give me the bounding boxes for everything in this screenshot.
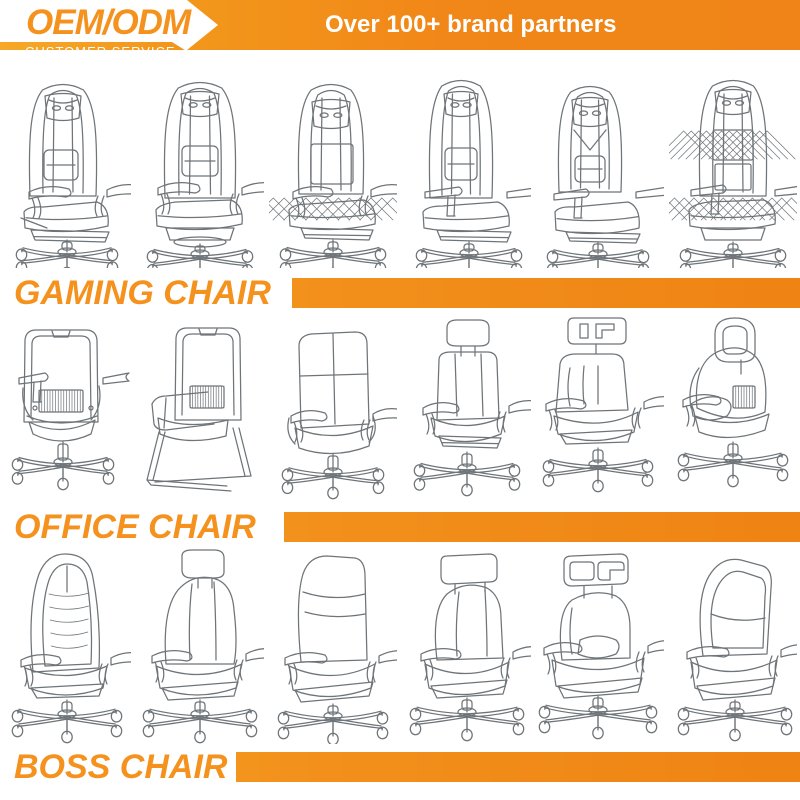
product-thumb-boss-chair-ribbed-back[interactable]: [0, 548, 133, 744]
product-row-office: [0, 312, 800, 504]
product-row-boss: [0, 548, 800, 744]
gaming-chair-diamond-stitch-illustration: [669, 72, 797, 268]
gaming-chair-quilted-seat-illustration: [269, 72, 397, 268]
highback-headrest-chair-footrest-illustration: [403, 312, 531, 504]
gaming-chair-winged-back-illustration: [536, 72, 664, 268]
product-thumb-racing-gaming-chair-footrest-left[interactable]: [0, 72, 133, 268]
product-row-office-images: [0, 312, 800, 504]
product-thumb-ergonomic-lumbar-mesh-chair[interactable]: [667, 312, 800, 504]
boss-chair-tall-back-illustration: [269, 548, 397, 744]
product-thumb-mesh-task-chair-swivel[interactable]: [0, 312, 133, 504]
racing-gaming-chair-front-illustration: [136, 72, 264, 268]
product-thumb-gaming-chair-highback-footrest[interactable]: [400, 72, 533, 268]
boss-chair-padded-headrest-illustration: [403, 548, 531, 744]
product-row-gaming-images: [0, 72, 800, 268]
product-thumb-boss-chair-headrest-recliner[interactable]: [133, 548, 266, 744]
product-thumb-midback-executive-chair[interactable]: [267, 312, 400, 504]
product-thumb-boss-chair-padded-headrest[interactable]: [400, 548, 533, 744]
category-label-office: OFFICE CHAIR: [0, 508, 800, 546]
product-thumb-gaming-chair-quilted-seat[interactable]: [267, 72, 400, 268]
category-label-boss: BOSS CHAIR: [0, 748, 800, 786]
product-thumb-gaming-chair-diamond-stitch[interactable]: [667, 72, 800, 268]
midback-executive-chair-illustration: [269, 312, 397, 504]
header-tagline: Over 100+ brand partners: [325, 10, 616, 40]
ergonomic-mesh-chair-headrest-illustration: [536, 312, 664, 504]
product-thumb-racing-gaming-chair-front[interactable]: [133, 72, 266, 268]
product-thumb-ergonomic-mesh-chair-headrest[interactable]: [534, 312, 667, 504]
oem-badge-title: OEM/ODM: [26, 4, 190, 42]
product-thumb-mesh-visitor-sled-chair[interactable]: [133, 312, 266, 504]
boss-chair-ribbed-back-illustration: [3, 548, 131, 744]
product-thumb-boss-chair-mesh-headrest[interactable]: [534, 548, 667, 744]
mesh-task-chair-swivel-illustration: [3, 312, 131, 504]
category-title-boss: BOSS CHAIR: [14, 748, 229, 786]
product-row-gaming: [0, 72, 800, 268]
category-title-gaming: GAMING CHAIR: [14, 274, 273, 312]
boss-chair-mesh-headrest-illustration: [536, 548, 664, 744]
product-thumb-highback-headrest-chair-footrest[interactable]: [400, 312, 533, 504]
ergonomic-lumbar-mesh-chair-illustration: [669, 312, 797, 504]
category-title-office: OFFICE CHAIR: [14, 508, 258, 546]
page-header: OEM/ODM CUSTOMER SERVICE Over 100+ brand…: [0, 0, 800, 62]
product-thumb-boss-chair-tall-back[interactable]: [267, 548, 400, 744]
racing-gaming-chair-footrest-left-illustration: [3, 72, 131, 268]
product-thumb-gaming-chair-winged-back[interactable]: [534, 72, 667, 268]
category-label-gaming: GAMING CHAIR: [0, 274, 800, 312]
product-thumb-boss-chair-wide-recliner[interactable]: [667, 548, 800, 744]
catalog-banner: OEM/ODM CUSTOMER SERVICE Over 100+ brand…: [0, 0, 800, 800]
mesh-visitor-sled-chair-illustration: [136, 312, 264, 504]
gaming-chair-highback-footrest-illustration: [403, 72, 531, 268]
boss-chair-headrest-recliner-illustration: [136, 548, 264, 744]
header-bottom-fill: [0, 50, 800, 62]
product-row-boss-images: [0, 548, 800, 744]
boss-chair-wide-recliner-illustration: [669, 548, 797, 744]
